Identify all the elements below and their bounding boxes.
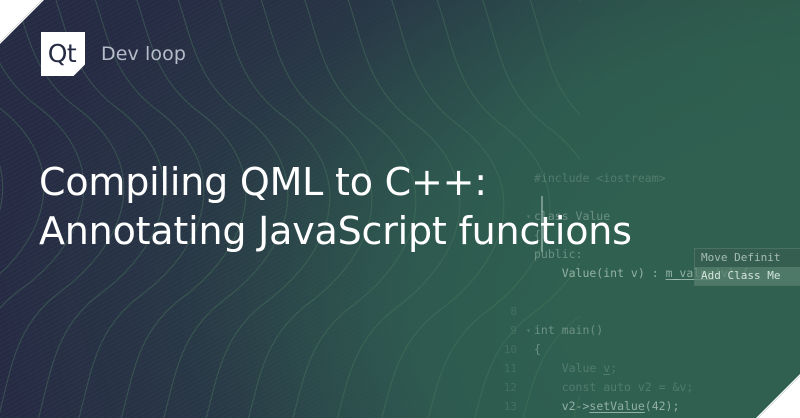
editor-context-menu[interactable]: Move DefinitAdd Class Me (694, 248, 800, 286)
brand-header: Qt Dev loop (41, 32, 186, 76)
code-line-text: v2->setValue(42); (534, 397, 800, 416)
code-line-number: 13 (497, 397, 523, 416)
code-line-text: Value v; (534, 359, 800, 378)
code-line: 12 const auto v2 = &v; (497, 378, 800, 397)
code-line-number: 8 (497, 302, 523, 321)
code-line: 9▾int main() (497, 321, 800, 340)
code-line-number: 10 (497, 340, 523, 359)
qt-dev-loop-banner: #include <iostream>▾class Value{public: … (0, 0, 800, 418)
code-line-number: 9 (497, 321, 523, 340)
code-line-text: { (534, 340, 800, 359)
code-line-text: const auto v2 = &v; (534, 378, 800, 397)
context-menu-item[interactable]: Add Class Me (695, 267, 800, 285)
qt-logo-label: Qt (48, 39, 76, 68)
brand-subtitle: Dev loop (101, 43, 186, 65)
page-title-line-2: Annotating JavaScript functions (39, 207, 639, 256)
code-symbol-underlined: setValue (589, 399, 644, 413)
code-line: 8 (497, 302, 800, 321)
code-line: 10{ (497, 340, 800, 359)
code-fold-arrow-icon[interactable]: ▾ (523, 321, 534, 340)
qt-logo-icon[interactable]: Qt (41, 32, 85, 76)
code-line: 11 Value v; (497, 359, 800, 378)
code-line-number: 12 (497, 378, 523, 397)
context-menu-item[interactable]: Move Definit (695, 249, 800, 267)
code-symbol-underlined: v (603, 361, 610, 375)
code-line: 13 v2->setValue(42); (497, 397, 800, 416)
code-line-text: int main() (534, 321, 800, 340)
page-title: Compiling QML to C++: Annotating JavaScr… (39, 158, 639, 256)
code-line-number: 11 (497, 359, 523, 378)
page-title-line-1: Compiling QML to C++: (39, 158, 639, 207)
